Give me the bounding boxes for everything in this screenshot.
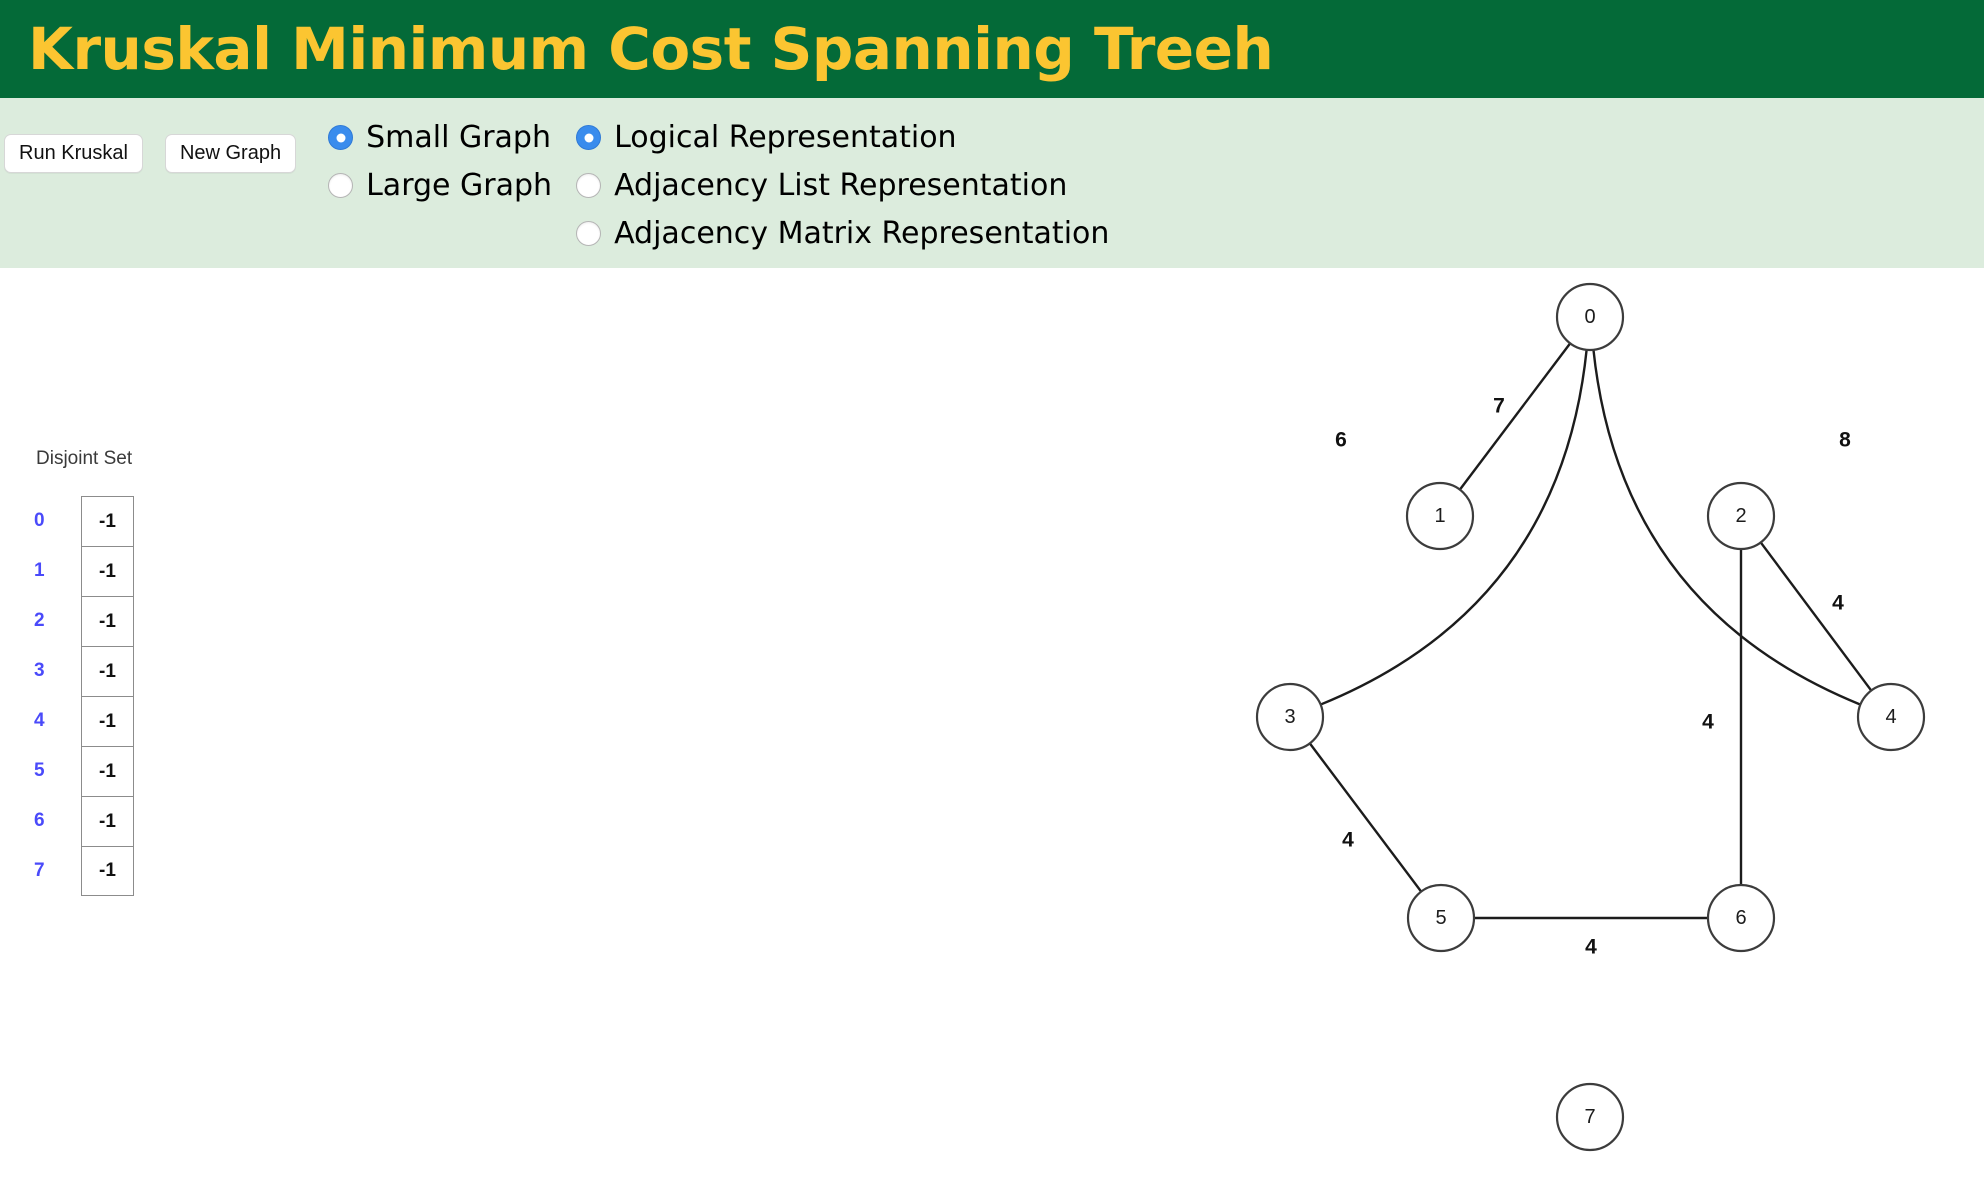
action-button-group: Run Kruskal New Graph bbox=[0, 134, 296, 173]
edge-weight-label: 4 bbox=[1585, 936, 1597, 959]
representation-radio-group: Logical Representation Adjacency List Re… bbox=[576, 118, 1109, 253]
radio-indicator-icon[interactable] bbox=[328, 173, 353, 198]
edge-weight-label: 8 bbox=[1839, 429, 1851, 452]
radio-label-logical-representation: Logical Representation bbox=[614, 123, 957, 153]
radio-indicator-icon[interactable] bbox=[576, 125, 601, 150]
radio-label-small-graph: Small Graph bbox=[366, 123, 551, 153]
radio-option-small-graph[interactable]: Small Graph bbox=[328, 118, 552, 157]
radio-label-adjacency-matrix-representation: Adjacency Matrix Representation bbox=[614, 219, 1109, 249]
graph-node-label: 2 bbox=[1735, 505, 1746, 527]
edge-weight-layer: 7684444 bbox=[1335, 395, 1851, 959]
graph-node-label: 5 bbox=[1435, 907, 1446, 929]
node-layer: 01234567 bbox=[1257, 284, 1924, 1150]
graph-node-label: 7 bbox=[1584, 1106, 1595, 1128]
new-graph-button[interactable]: New Graph bbox=[165, 134, 296, 173]
edge-weight-label: 7 bbox=[1493, 395, 1505, 418]
edge-layer bbox=[1310, 343, 1871, 918]
radio-indicator-icon[interactable] bbox=[576, 173, 601, 198]
graph-edge bbox=[1761, 542, 1872, 690]
radio-option-large-graph[interactable]: Large Graph bbox=[328, 166, 552, 205]
radio-indicator-icon[interactable] bbox=[576, 221, 601, 246]
graph-node-label: 6 bbox=[1735, 907, 1746, 929]
run-kruskal-button[interactable]: Run Kruskal bbox=[4, 134, 143, 173]
graph-size-radio-group: Small Graph Large Graph bbox=[328, 118, 552, 205]
edge-weight-label: 4 bbox=[1702, 711, 1714, 734]
control-bar: Run Kruskal New Graph Small Graph Large … bbox=[0, 98, 1984, 268]
radio-option-logical-representation[interactable]: Logical Representation bbox=[576, 118, 1109, 157]
page-header: Kruskal Minimum Cost Spanning Treeh bbox=[0, 0, 1984, 98]
page-title: Kruskal Minimum Cost Spanning Treeh bbox=[28, 20, 1273, 78]
edge-weight-label: 4 bbox=[1832, 592, 1844, 615]
radio-indicator-icon[interactable] bbox=[328, 125, 353, 150]
radio-option-adjacency-list-representation[interactable]: Adjacency List Representation bbox=[576, 166, 1109, 205]
app-root: Kruskal Minimum Cost Spanning Treeh Run … bbox=[0, 0, 1984, 1190]
radio-label-adjacency-list-representation: Adjacency List Representation bbox=[614, 171, 1067, 201]
graph-node-label: 4 bbox=[1885, 706, 1896, 728]
graph-edge bbox=[1310, 743, 1421, 891]
graph-node-label: 3 bbox=[1284, 706, 1295, 728]
graph-diagram: 01234567 7684444 bbox=[0, 268, 1984, 1190]
graph-edge bbox=[1460, 343, 1570, 489]
radio-option-adjacency-matrix-representation[interactable]: Adjacency Matrix Representation bbox=[576, 214, 1109, 253]
visualization-canvas: Disjoint Set 0-11-12-13-14-15-16-17-1 01… bbox=[0, 268, 1984, 1190]
graph-node-label: 0 bbox=[1584, 306, 1595, 328]
edge-weight-label: 4 bbox=[1342, 829, 1354, 852]
edge-weight-label: 6 bbox=[1335, 429, 1347, 452]
graph-node-label: 1 bbox=[1434, 505, 1445, 527]
radio-label-large-graph: Large Graph bbox=[366, 171, 552, 201]
